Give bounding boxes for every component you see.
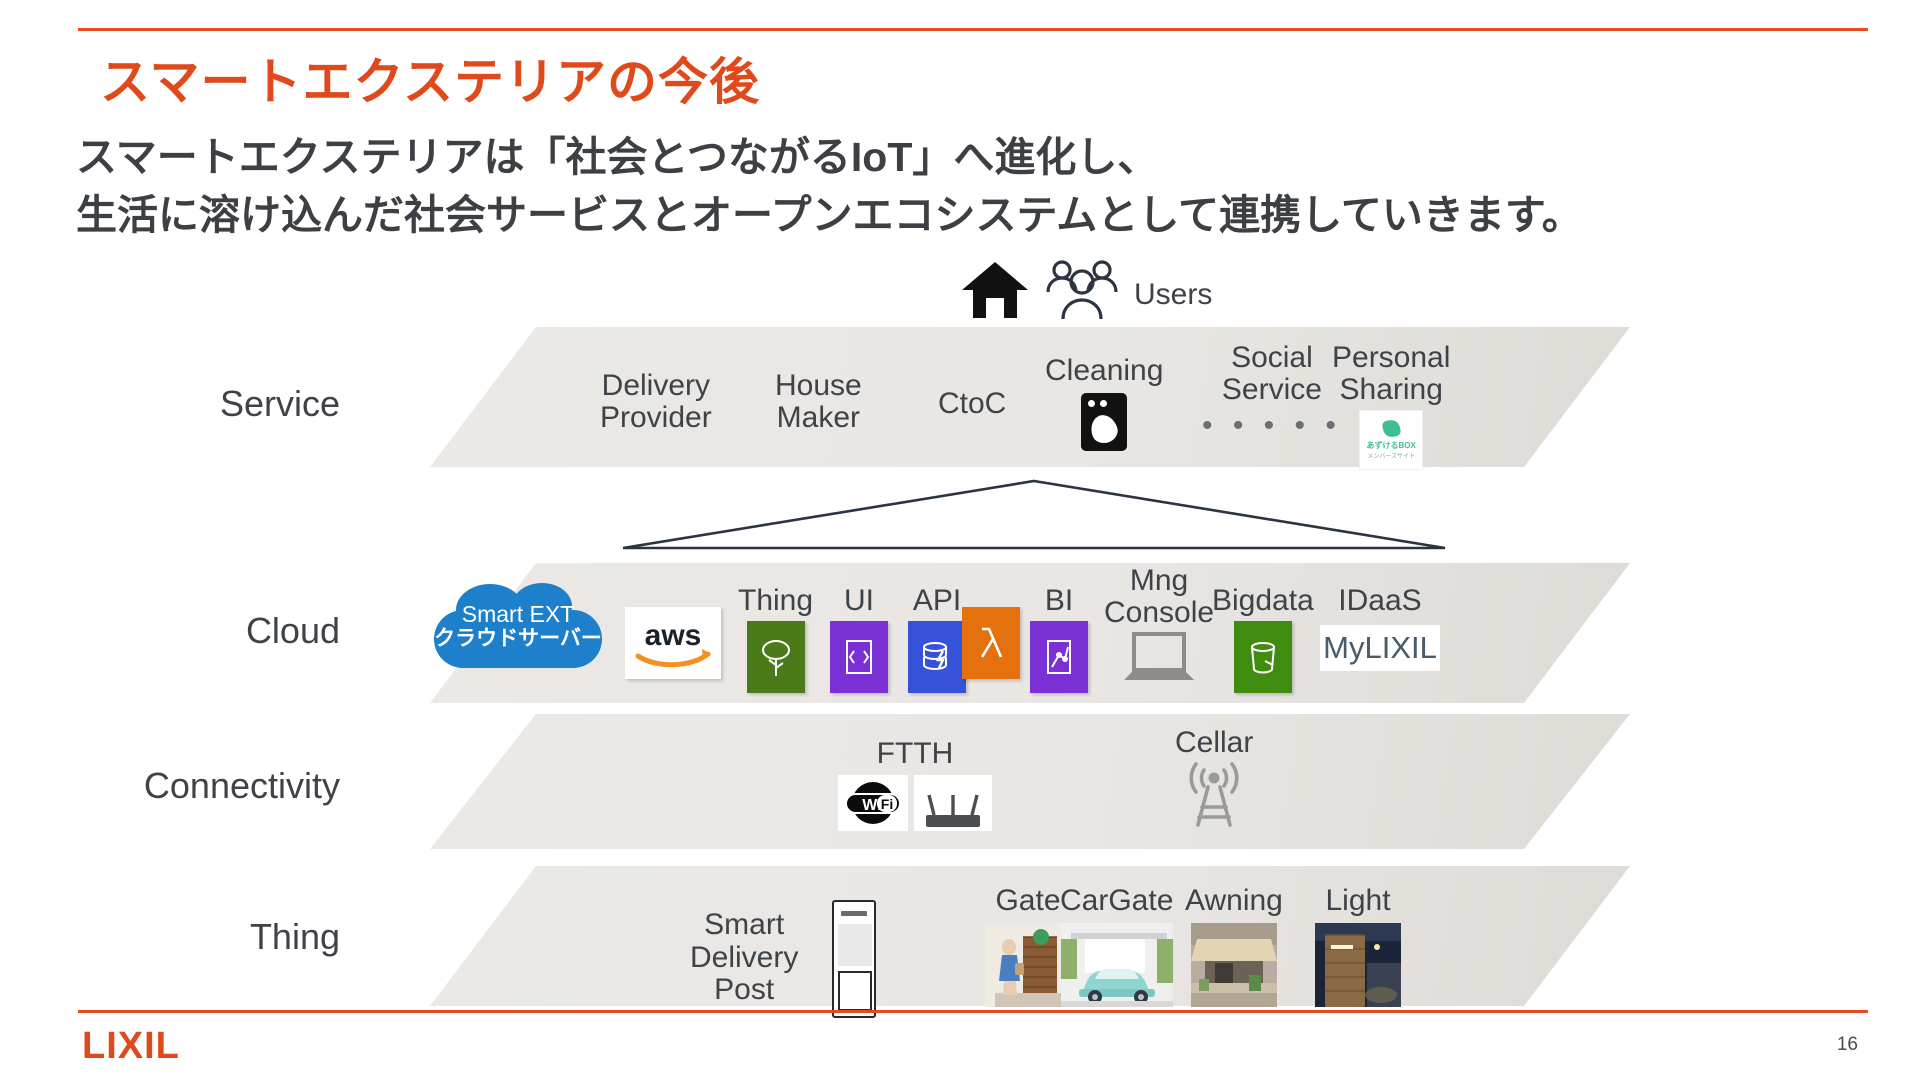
cloud-item-mng-console: Mng Console (1104, 565, 1214, 692)
home-icon (960, 258, 1030, 322)
users-group: Users (960, 258, 1212, 322)
iot-thing-icon (747, 621, 805, 693)
azukeru-glyph-icon (1381, 418, 1401, 438)
service-item-label: Personal Sharing (1332, 342, 1450, 407)
cloud-badge-line-2: クラウドサーバー (434, 627, 602, 651)
cloud-item-label: Thing (738, 585, 813, 617)
api-gateway-icon (908, 621, 966, 693)
azukeru-box-logo: あずけるBOX メンバーズサイト (1360, 411, 1422, 469)
wifi-logo-icon: Wi Fi (838, 775, 908, 831)
layer-label-connectivity: Connectivity (144, 765, 340, 807)
cloud-item-thing: Thing (738, 585, 813, 693)
thing-item-cargate: CarGate (1060, 885, 1173, 1007)
service-item-label: House Maker (775, 370, 862, 435)
layer-label-service: Service (220, 383, 340, 425)
connectivity-item-label: Cellar (1175, 727, 1253, 759)
connectivity-item-ftth: FTTH Wi Fi (838, 738, 992, 831)
service-item-ctoc: CtoC (938, 388, 1006, 420)
cloud-item-bi: BI (1030, 585, 1088, 693)
slide-root: スマートエクステリアの今後 スマートエクステリアは「社会とつながるIoT」へ進化… (0, 0, 1920, 1078)
subtitle-line-1: スマートエクステリアは「社会とつながるIoT」へ進化し、 (76, 128, 1583, 186)
service-item-label: Cleaning (1045, 355, 1163, 387)
service-item-cleaning: Cleaning (1045, 355, 1163, 451)
ftth-icon-group: Wi Fi (838, 775, 992, 831)
ui-code-icon (830, 621, 888, 693)
light-photo (1315, 923, 1401, 1007)
service-item-label: Social Service (1222, 342, 1322, 407)
azukeru-logo-line-2: メンバーズサイト (1367, 451, 1415, 460)
service-item-social-service: Social Service • • • • • (1202, 342, 1342, 443)
svg-text:aws: aws (645, 619, 702, 652)
smart-ext-cloud-badge: Smart EXT クラウドサーバー (432, 580, 604, 672)
thing-item-label: Smart Delivery Post (690, 909, 798, 1006)
cloud-item-label: API (913, 585, 961, 617)
thing-item-smart-delivery-post: Smart Delivery Post (690, 898, 876, 1018)
lixil-logo: LIXIL (82, 1025, 180, 1068)
laptop-console-icon (1120, 630, 1198, 692)
cloud-item-label: Mng Console (1104, 565, 1214, 630)
post-door (838, 971, 872, 1011)
top-divider (78, 28, 1868, 31)
cell-tower-icon (1178, 759, 1250, 831)
aws-logo-icon: aws (625, 607, 721, 679)
page-title: スマートエクステリアの今後 (100, 42, 760, 114)
subtitle-line-2: 生活に溶け込んだ社会サービスとオープンエコシステムとして連携していきます。 (76, 186, 1583, 244)
thing-item-label: CarGate (1060, 885, 1173, 917)
page-subtitle: スマートエクステリアは「社会とつながるIoT」へ進化し、 生活に溶け込んだ社会サ… (76, 128, 1583, 244)
service-item-label: CtoC (938, 388, 1006, 420)
aws-wordmark-icon: aws (630, 618, 716, 668)
thing-item-label: Awning (1185, 885, 1283, 917)
azukeru-logo-line-1: あずけるBOX (1367, 440, 1416, 451)
cloud-badge-line-1: Smart EXT (434, 601, 602, 627)
thing-item-label: Gate (995, 885, 1060, 917)
service-item-personal-sharing: Personal Sharing あずけるBOX メンバーズサイト (1332, 342, 1450, 469)
awning-photo (1191, 923, 1277, 1007)
layer-label-cloud: Cloud (246, 610, 340, 652)
lambda-icon (962, 607, 1020, 679)
mylixil-logo: MyLIXIL (1320, 625, 1440, 671)
delivery-post-icon (832, 900, 876, 1018)
cloud-item-aws: aws (625, 603, 721, 679)
cloud-item-label: IDaaS (1338, 585, 1421, 617)
cloud-item-lambda (962, 603, 1020, 679)
cloud-item-label: UI (844, 585, 874, 617)
thing-item-awning: Awning (1185, 885, 1283, 1007)
bi-chart-icon (1030, 621, 1088, 693)
cloud-item-label: BI (1045, 585, 1073, 617)
connectivity-item-label: FTTH (877, 738, 954, 770)
connectivity-band (430, 714, 1630, 849)
layer-label-thing: Thing (250, 916, 340, 958)
thing-item-label: Light (1325, 885, 1390, 917)
connectivity-item-cellar: Cellar (1175, 727, 1253, 831)
cargate-photo (1061, 923, 1173, 1007)
cloud-item-label: Bigdata (1212, 585, 1314, 617)
funnel-connector (620, 478, 1448, 553)
page-number: 16 (1837, 1034, 1858, 1056)
cloud-item-ui: UI (830, 585, 888, 693)
thing-item-gate: Gate (985, 885, 1071, 1007)
router-icon (914, 775, 992, 831)
service-item-label: Delivery Provider (600, 370, 712, 435)
cloud-item-idaas: IDaaS MyLIXIL (1320, 585, 1440, 671)
svg-text:Fi: Fi (881, 796, 893, 812)
gate-photo (985, 923, 1071, 1007)
users-label: Users (1134, 278, 1212, 322)
mylixil-logo-text: MyLIXIL (1323, 630, 1437, 666)
users-group-icon (1044, 258, 1120, 322)
bottom-divider (78, 1010, 1868, 1013)
service-item-house-maker: House Maker (775, 370, 862, 435)
bucket-icon (1234, 621, 1292, 693)
washing-machine-icon (1081, 393, 1127, 451)
cloud-item-bigdata: Bigdata (1212, 585, 1314, 693)
post-body (838, 924, 872, 966)
service-item-delivery-provider: Delivery Provider (600, 370, 712, 435)
cloud-badge-text: Smart EXT クラウドサーバー (434, 601, 602, 652)
ellipsis-dots-icon: • • • • • (1202, 409, 1342, 443)
cloud-item-api: API (908, 585, 966, 693)
thing-item-light: Light (1315, 885, 1401, 1007)
post-slot (841, 911, 867, 916)
